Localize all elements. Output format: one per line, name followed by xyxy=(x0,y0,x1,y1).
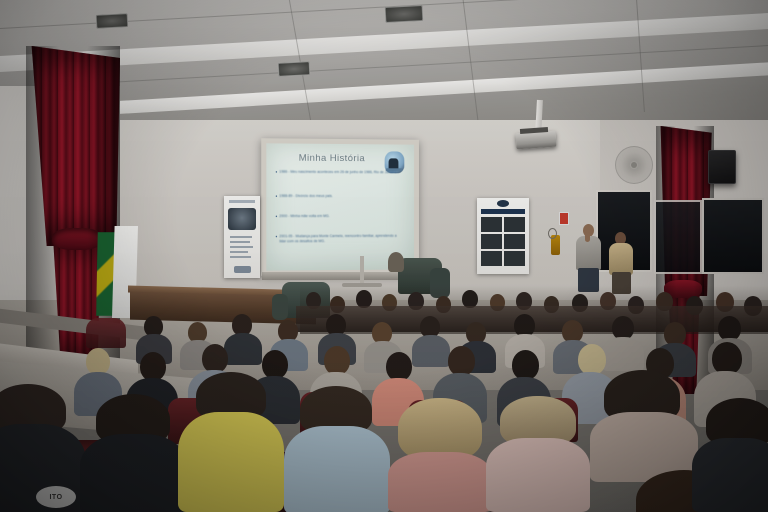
watermark-badge: ITO xyxy=(36,486,76,508)
slide-bullet-text: 2000 - Minha mãe volta em MG. xyxy=(279,214,329,219)
slide-title: Minha História xyxy=(277,152,387,164)
audience-body-front xyxy=(80,434,188,512)
photo-poster-right xyxy=(477,198,529,274)
audience-body-front xyxy=(388,452,492,512)
wall-speaker xyxy=(708,150,736,184)
presenter-speaking-arm xyxy=(585,232,590,242)
audience-body-front xyxy=(486,438,590,512)
slide-bullet-text: 1986 - Meu nascimento aconteceu em 26 de… xyxy=(279,170,397,175)
wall-fan xyxy=(615,146,653,184)
audience-head xyxy=(140,352,166,381)
audience-body-front-yellow xyxy=(178,412,284,512)
bullet-marker: • xyxy=(276,214,278,220)
audience-head xyxy=(202,344,228,373)
slide-bullet-text: 1988-89 - Divórcio dos meus pais. xyxy=(279,194,333,199)
audience-head xyxy=(512,350,539,380)
audience-head xyxy=(324,346,350,375)
armchair-arm xyxy=(272,294,288,320)
exit-sign xyxy=(559,212,569,225)
recessed-light xyxy=(96,13,129,29)
auditorium-chair xyxy=(86,318,126,348)
audience-head-front-blonde xyxy=(398,398,482,460)
extinguisher-hose xyxy=(548,228,557,239)
audience-head xyxy=(262,350,288,379)
bullet-marker: • xyxy=(276,170,278,176)
auditorium-photo: Minha História • 1986 - Meu nascimento a… xyxy=(0,0,768,512)
audience-head-blonde xyxy=(86,348,110,375)
audience-head xyxy=(386,352,412,381)
recessed-light xyxy=(385,5,424,23)
bullet-marker: • xyxy=(276,194,278,200)
audience-body-front xyxy=(692,438,768,512)
poster-headline xyxy=(481,209,525,214)
plant-decor xyxy=(388,252,404,272)
audience-body xyxy=(412,335,450,367)
audience-body xyxy=(224,333,262,365)
window-dark-center xyxy=(654,200,702,274)
screen-stand-pole xyxy=(360,256,364,286)
window-dark-right xyxy=(702,198,764,274)
audience-head-blonde xyxy=(578,344,606,375)
audience-body-front xyxy=(284,426,390,512)
screen-bottom-bar xyxy=(262,272,420,280)
roll-up-banner-left xyxy=(224,196,260,278)
projected-slide: Minha História • 1986 - Meu nascimento a… xyxy=(266,143,414,270)
slide-bullet-text: 2001-05 - Mudança para Monte Carmelo, re… xyxy=(279,234,399,244)
audience-head xyxy=(448,346,475,376)
recessed-light xyxy=(278,61,311,77)
audience-body xyxy=(602,337,644,371)
bullet-marker: • xyxy=(276,234,278,240)
presenter-standing-torso xyxy=(609,243,633,275)
